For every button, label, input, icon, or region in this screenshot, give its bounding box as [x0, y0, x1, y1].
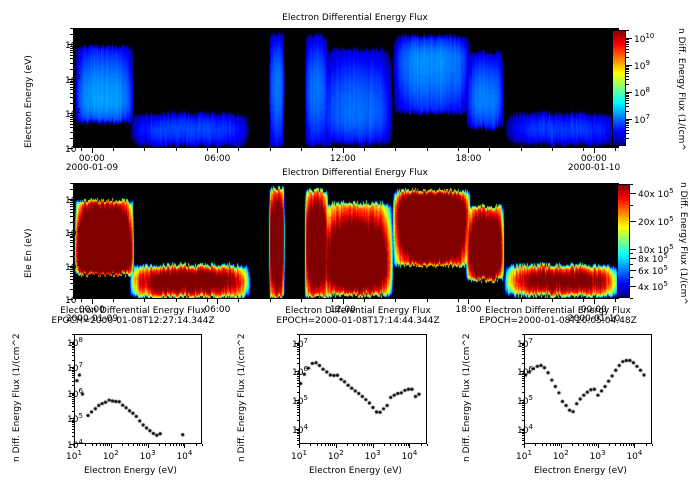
colorbar-top-minor-tick — [626, 76, 629, 77]
spectrum-x-minor-tick — [96, 444, 97, 446]
spectrum-2-plot — [299, 334, 427, 444]
spectrum-y-minor-tick — [72, 395, 74, 396]
y-minor-tick — [70, 273, 73, 274]
spectrum-y-minor-tick — [72, 349, 74, 350]
spectrum-x-minor-tick — [572, 444, 573, 446]
y-minor-tick — [70, 222, 73, 223]
y-minor-tick — [70, 103, 73, 104]
y-minor-tick — [70, 119, 73, 120]
x-tick-mark — [92, 148, 93, 153]
spectrum-x-minor-tick — [546, 444, 547, 446]
spectrum-x-minor-tick — [587, 444, 588, 446]
spectrum-x-minor-tick — [629, 444, 630, 446]
spectrum-y-minor-tick — [72, 346, 74, 347]
x-minor-tick — [489, 148, 490, 151]
y-minor-tick — [70, 246, 73, 247]
spectrum-x-tick-label: 103 — [360, 449, 386, 462]
spectrum-y-minor-tick — [522, 403, 524, 404]
y-minor-tick — [70, 289, 73, 290]
spectrum-x-minor-tick — [594, 444, 595, 446]
y-minor-tick — [70, 250, 73, 251]
spectrum-x-tick-mark — [184, 444, 185, 448]
spectrum-y-minor-tick — [297, 378, 299, 379]
spectrum-x-minor-tick — [328, 444, 329, 446]
colorbar-top-tick-label: 1010 — [634, 32, 654, 45]
spectrum-y-minor-tick — [297, 376, 299, 377]
spectrum-x-minor-tick — [427, 444, 428, 446]
spectrum-y-minor-tick — [297, 363, 299, 364]
x-minor-tick — [207, 299, 208, 302]
x-tick-mark — [343, 148, 344, 153]
spectrum-y-minor-tick — [297, 403, 299, 404]
colorbar-bottom-tick-label: 20x 105 — [638, 215, 674, 228]
x-tick-mark — [92, 299, 93, 304]
y-minor-tick — [70, 269, 73, 270]
y-minor-tick — [70, 242, 73, 243]
spectrum-y-minor-tick — [522, 349, 524, 350]
colorbar-top-minor-tick — [626, 122, 629, 123]
spectrum-y-minor-tick — [297, 430, 299, 431]
y-minor-tick — [70, 89, 73, 90]
colorbar-top-minor-tick — [626, 52, 629, 53]
spectrum-x-minor-tick — [159, 444, 160, 446]
colorbar-bottom-minor-tick — [630, 253, 633, 254]
spectrum-x-minor-tick — [103, 444, 104, 446]
y-minor-tick — [70, 138, 73, 139]
spectrum-y-minor-tick — [72, 424, 74, 425]
x-minor-tick — [552, 299, 553, 302]
colorbar-bottom-tick-label: 10x 105 — [638, 243, 674, 256]
x-minor-tick — [615, 148, 616, 151]
spectrum-x-minor-tick — [395, 444, 396, 446]
spectrum-y-minor-tick — [297, 409, 299, 410]
colorbar-top-minor-tick — [626, 49, 629, 50]
spectrum-y-minor-tick — [297, 440, 299, 441]
spectrum-y-minor-tick — [522, 415, 524, 416]
colorbar-top-minor-tick — [626, 138, 629, 139]
spectrum-x-minor-tick — [421, 444, 422, 446]
spectrum-x-minor-tick — [142, 444, 143, 446]
y-minor-tick — [70, 234, 73, 235]
spectrum-x-minor-tick — [550, 444, 551, 446]
spectrum-y-minor-tick — [297, 345, 299, 346]
colorbar-bottom-minor-tick — [630, 258, 633, 259]
spectrum-y-minor-tick — [297, 354, 299, 355]
colorbar-bottom-minor-tick — [630, 270, 633, 271]
x-minor-tick — [521, 299, 522, 302]
spectrum-y-minor-tick — [72, 403, 74, 404]
colorbar-top-minor-tick — [626, 130, 629, 131]
spectrum-y-minor-tick — [522, 405, 524, 406]
spectrum-x-tick-mark — [111, 444, 112, 448]
colorbar-top-tick-label: 108 — [634, 86, 650, 99]
spectrum-2-xlabel: Electron Energy (eV) — [309, 466, 402, 476]
spectrum-x-minor-tick — [196, 444, 197, 446]
spectrum-y-minor-tick — [297, 432, 299, 433]
spectrum-y-minor-tick — [72, 401, 74, 402]
spectrum-y-minor-tick — [522, 363, 524, 364]
spectrum-x-tick-mark — [74, 444, 75, 448]
spectrum-x-minor-tick — [553, 444, 554, 446]
colorbar-bottom-minor-tick — [630, 205, 633, 206]
colorbar-bottom — [617, 184, 630, 298]
y-minor-tick — [70, 256, 73, 257]
spectrum-x-minor-tick — [583, 444, 584, 446]
colorbar-top-minor-tick — [626, 93, 629, 94]
y-minor-tick — [70, 212, 73, 213]
spectrum-x-minor-tick — [542, 444, 543, 446]
x-minor-tick — [552, 148, 553, 151]
colorbar-top-minor-tick — [626, 123, 629, 124]
colorbar-bottom-minor-tick — [630, 193, 633, 194]
colorbar-top-minor-tick — [626, 73, 629, 74]
colorbar-top-minor-tick — [626, 127, 629, 128]
spectrum-x-minor-tick — [179, 444, 180, 446]
spectrum-y-minor-tick — [297, 405, 299, 406]
spectrum-y-minor-tick — [297, 383, 299, 384]
spectrum-x-tick-mark — [561, 444, 562, 448]
spectrum-y-minor-tick — [522, 358, 524, 359]
x-minor-tick — [364, 148, 365, 151]
spectrum-x-tick-mark — [598, 444, 599, 448]
colorbar-label-bottom: n Diff. Energy Flux (1/(cm^ — [678, 182, 688, 305]
spectrum-y-minor-tick — [522, 374, 524, 375]
spectrum-y-minor-tick — [297, 420, 299, 421]
colorbar-top-minor-tick — [626, 44, 629, 45]
x-tick-mark — [594, 299, 595, 304]
x-minor-tick — [81, 148, 82, 151]
spectrum-y-minor-tick — [522, 407, 524, 408]
spectrum-x-minor-tick — [100, 444, 101, 446]
spectrum-x-minor-tick — [137, 444, 138, 446]
y-minor-tick — [70, 34, 73, 35]
spectrum-y-minor-tick — [297, 407, 299, 408]
spectrum-x-minor-tick — [609, 444, 610, 446]
spectrum-x-minor-tick — [133, 444, 134, 446]
spectrum-x-minor-tick — [408, 444, 409, 446]
spectrum-x-tick-label: 101 — [61, 449, 87, 462]
spectrum-1-plot — [74, 334, 202, 444]
colorbar-bottom-minor-tick — [630, 264, 633, 265]
y-minor-tick — [70, 267, 73, 268]
spectrum-x-minor-tick — [369, 444, 370, 446]
spectrum-y-minor-tick — [72, 426, 74, 427]
spectrum-x-minor-tick — [122, 444, 123, 446]
spectrum-y-minor-tick — [522, 440, 524, 441]
colorbar-top-minor-tick — [626, 103, 629, 104]
spectrum-x-minor-tick — [310, 444, 311, 446]
y-minor-tick — [70, 209, 73, 210]
y-minor-tick — [70, 97, 73, 98]
spectrum-x-minor-tick — [109, 444, 110, 446]
x-minor-tick — [238, 299, 239, 302]
spectrum-x-minor-tick — [181, 444, 182, 446]
colorbar-bottom-minor-tick — [630, 286, 633, 287]
y-minor-tick — [70, 58, 73, 59]
y-minor-tick — [70, 121, 73, 122]
spectrum-x-tick-mark — [148, 444, 149, 448]
spectrum-y-minor-tick — [72, 355, 74, 356]
x-tick-label: 06:00 — [200, 154, 234, 164]
spectrum-x-minor-tick — [406, 444, 407, 446]
x-minor-tick — [521, 148, 522, 151]
colorbar-bottom-minor-tick — [630, 184, 633, 185]
spectrum-y-minor-tick — [72, 381, 74, 382]
spectrogram-bottom-image — [73, 183, 619, 299]
spectrum-x-minor-tick — [589, 444, 590, 446]
spectrum-y-minor-tick — [72, 385, 74, 386]
spectrum-y-minor-tick — [522, 412, 524, 413]
spectrum-x-minor-tick — [404, 444, 405, 446]
spectrum-3-xlabel: Electron Energy (eV) — [534, 466, 627, 476]
spectrum-x-minor-tick — [626, 444, 627, 446]
spectrum-y-minor-tick — [72, 370, 74, 371]
x-minor-tick — [395, 299, 396, 302]
y-minor-tick — [70, 240, 73, 241]
colorbar-bottom-tick-label: 4x 105 — [638, 280, 668, 293]
spectrum-x-minor-tick — [646, 444, 647, 446]
spectrum-y-minor-tick — [522, 344, 524, 345]
spectrum-y-minor-tick — [522, 409, 524, 410]
colorbar-top-minor-tick — [626, 39, 629, 40]
spectrum-x-minor-tick — [85, 444, 86, 446]
spectrum-y-minor-tick — [72, 406, 74, 407]
spectrum-x-minor-tick — [128, 444, 129, 446]
spectrum-x-tick-mark — [524, 444, 525, 448]
x-minor-tick — [176, 148, 177, 151]
spectrum-y-minor-tick — [297, 351, 299, 352]
spectrum-y-minor-tick — [72, 344, 74, 345]
colorbar-top-minor-tick — [626, 133, 629, 134]
spectrum-x-minor-tick — [202, 444, 203, 446]
colorbar-top-minor-tick — [626, 106, 629, 107]
spectrum-y-minor-tick — [297, 334, 299, 335]
spectrum-y-minor-tick — [522, 435, 524, 436]
x-minor-tick — [207, 148, 208, 151]
spectrum-y-minor-tick — [297, 435, 299, 436]
spectrum-y-minor-tick — [522, 392, 524, 393]
x-tick-date: 2000-01-09 — [66, 163, 118, 173]
spectrum-y-minor-tick — [72, 334, 74, 335]
spectrum-x-minor-tick — [535, 444, 536, 446]
spectrum-2-title: Electron Differential Energy Flux — [263, 306, 453, 316]
colorbar-top-minor-tick — [626, 96, 629, 97]
spectrum-2-epoch: EPOCH=2000-01-08T17:14:44.344Z — [253, 316, 463, 326]
x-tick-mark — [343, 299, 344, 304]
y-minor-tick — [70, 127, 73, 128]
spectrum-y-minor-tick — [72, 422, 74, 423]
colorbar-bottom-tick-label: 6x 105 — [638, 264, 668, 277]
spectrum-x-minor-tick — [321, 444, 322, 446]
x-minor-tick — [395, 148, 396, 151]
spectrum-x-minor-tick — [367, 444, 368, 446]
spectrum-x-minor-tick — [557, 444, 558, 446]
y-minor-tick — [70, 276, 73, 277]
spectrum-y-minor-tick — [297, 349, 299, 350]
colorbar-top-minor-tick — [626, 57, 629, 58]
y-minor-tick — [70, 93, 73, 94]
spectrum-x-minor-tick — [633, 444, 634, 446]
spectrum-y-minor-tick — [522, 433, 524, 434]
spectrum-x-minor-tick — [165, 444, 166, 446]
y-minor-tick — [70, 271, 73, 272]
colorbar-top-minor-tick — [626, 66, 629, 67]
spectrum-1-xlabel: Electron Energy (eV) — [84, 466, 177, 476]
spectrum-x-tick-mark — [373, 444, 374, 448]
colorbar-bottom-minor-tick — [630, 298, 633, 299]
spectrum-2-ylabel: n Diff. Energy Flux (1/(cm^2 — [237, 333, 247, 462]
spectrum-y-minor-tick — [72, 347, 74, 348]
colorbar-top-minor-tick — [626, 120, 629, 121]
spectrum-3-ylabel: n Diff. Energy Flux (1/(cm^2 — [462, 333, 472, 462]
spectrum-y-minor-tick — [297, 415, 299, 416]
spectrum-x-minor-tick — [176, 444, 177, 446]
spectrum-1-ylabel: n Diff. Energy Flux (1/(cm^2 — [12, 333, 22, 462]
x-minor-tick — [364, 299, 365, 302]
colorbar-top-minor-tick — [626, 71, 629, 72]
spectrum-y-minor-tick — [522, 430, 524, 431]
spectrum-x-tick-label: 104 — [171, 449, 197, 462]
y-minor-tick — [70, 283, 73, 284]
x-tick-label: 18:00 — [451, 154, 485, 164]
spectrum-1-title: Electron Differential Energy Flux — [38, 306, 228, 316]
y-minor-tick — [70, 63, 73, 64]
spectrum-y-minor-tick — [297, 412, 299, 413]
spectrum-x-minor-tick — [623, 444, 624, 446]
spectrum-1-epoch: EPOCH=2000-01-08T12:27:14.344Z — [28, 316, 238, 326]
x-minor-tick — [458, 148, 459, 151]
y-minor-tick — [70, 189, 73, 190]
x-tick-mark — [594, 148, 595, 153]
x-minor-tick — [489, 299, 490, 302]
y-minor-tick — [70, 69, 73, 70]
spectrum-x-minor-tick — [170, 444, 171, 446]
colorbar-top-minor-tick — [626, 42, 629, 43]
spectrum-x-minor-tick — [334, 444, 335, 446]
spectrum-x-minor-tick — [146, 444, 147, 446]
spectrogram-top-image — [73, 28, 619, 148]
x-minor-tick — [615, 299, 616, 302]
x-minor-tick — [427, 299, 428, 302]
spectrum-y-minor-tick — [72, 436, 74, 437]
spectrum-x-minor-tick — [105, 444, 106, 446]
spectrum-y-minor-tick — [297, 358, 299, 359]
y-minor-tick — [70, 84, 73, 85]
spectrum-x-tick-mark — [299, 444, 300, 448]
colorbar-top-minor-tick — [626, 125, 629, 126]
spectrum-x-minor-tick — [330, 444, 331, 446]
y-minor-tick — [70, 81, 73, 82]
spectrum-x-tick-label: 102 — [548, 449, 574, 462]
x-minor-tick — [113, 299, 114, 302]
spectrum-x-minor-tick — [362, 444, 363, 446]
x-minor-tick — [270, 299, 271, 302]
spectrum-3-plot — [524, 334, 652, 444]
spectrum-y-minor-tick — [522, 420, 524, 421]
y-minor-tick — [70, 115, 73, 116]
y-minor-tick — [70, 87, 73, 88]
spectrum-y-minor-tick — [297, 347, 299, 348]
x-minor-tick — [144, 299, 145, 302]
y-minor-tick — [70, 50, 73, 51]
colorbar-top-minor-tick — [626, 111, 629, 112]
x-minor-tick — [81, 299, 82, 302]
spectrum-x-minor-tick — [317, 444, 318, 446]
x-minor-tick — [583, 299, 584, 302]
colorbar-top-tick-label: 109 — [634, 59, 650, 72]
y-minor-tick — [70, 279, 73, 280]
colorbar-top-minor-tick — [626, 30, 629, 31]
y-minor-tick — [70, 55, 73, 56]
spectrum-x-tick-label: 104 — [396, 449, 422, 462]
spectrum-y-minor-tick — [297, 344, 299, 345]
spectrum-y-minor-tick — [522, 378, 524, 379]
x-minor-tick — [427, 148, 428, 151]
colorbar-top-minor-tick — [626, 46, 629, 47]
colorbar-top-minor-tick — [626, 95, 629, 96]
colorbar-top-minor-tick — [626, 100, 629, 101]
spectrum-x-tick-mark — [409, 444, 410, 448]
spectrum-x-minor-tick — [555, 444, 556, 446]
y-minor-tick — [70, 202, 73, 203]
spectrum-x-minor-tick — [347, 444, 348, 446]
colorbar-label-top: n Diff. Energy Flux (1/(cm^ — [676, 28, 686, 151]
spectrum-y-minor-tick — [72, 373, 74, 374]
x-tick-mark — [468, 299, 469, 304]
spectrum-y-minor-tick — [522, 402, 524, 403]
x-tick-date: 2000-01-10 — [568, 163, 620, 173]
spectrum-3-title: Electron Differential Energy Flux — [463, 306, 653, 316]
spectrum-y-minor-tick — [72, 429, 74, 430]
spectrum-y-minor-tick — [72, 352, 74, 353]
panel-title-bottom: Electron Differential Energy Flux — [230, 168, 480, 178]
y-minor-tick — [70, 216, 73, 217]
spectrum-y-minor-tick — [72, 343, 74, 344]
spectrum-y-minor-tick — [522, 438, 524, 439]
colorbar-bottom-minor-tick — [630, 277, 633, 278]
colorbar-bottom-minor-tick — [630, 221, 633, 222]
spectrum-y-minor-tick — [72, 411, 74, 412]
x-minor-tick — [113, 148, 114, 151]
spectrum-y-minor-tick — [72, 432, 74, 433]
spectrum-y-minor-tick — [72, 377, 74, 378]
x-minor-tick — [301, 148, 302, 151]
spectrum-y-minor-tick — [297, 433, 299, 434]
spectrum-x-minor-tick — [384, 444, 385, 446]
colorbar-top-tick-label: 107 — [634, 113, 650, 126]
y-minor-tick — [70, 183, 73, 184]
y-minor-tick — [70, 236, 73, 237]
colorbar-top — [612, 30, 626, 146]
spectrum-y-minor-tick — [72, 420, 74, 421]
colorbar-top-minor-tick — [626, 69, 629, 70]
y-axis-label-bottom: Ele En (eV) — [24, 228, 34, 278]
x-minor-tick — [176, 299, 177, 302]
spectrum-y-minor-tick — [522, 386, 524, 387]
spectrum-x-minor-tick — [139, 444, 140, 446]
spectrum-x-minor-tick — [371, 444, 372, 446]
spectrum-x-minor-tick — [358, 444, 359, 446]
spectrum-x-minor-tick — [578, 444, 579, 446]
spectrum-x-tick-label: 101 — [511, 449, 537, 462]
y-minor-tick — [70, 46, 73, 47]
x-minor-tick — [270, 148, 271, 151]
spectrum-y-minor-tick — [522, 380, 524, 381]
x-minor-tick — [458, 299, 459, 302]
spectrum-y-minor-tick — [297, 380, 299, 381]
colorbar-bottom-minor-tick — [630, 249, 633, 250]
spectrum-x-minor-tick — [353, 444, 354, 446]
